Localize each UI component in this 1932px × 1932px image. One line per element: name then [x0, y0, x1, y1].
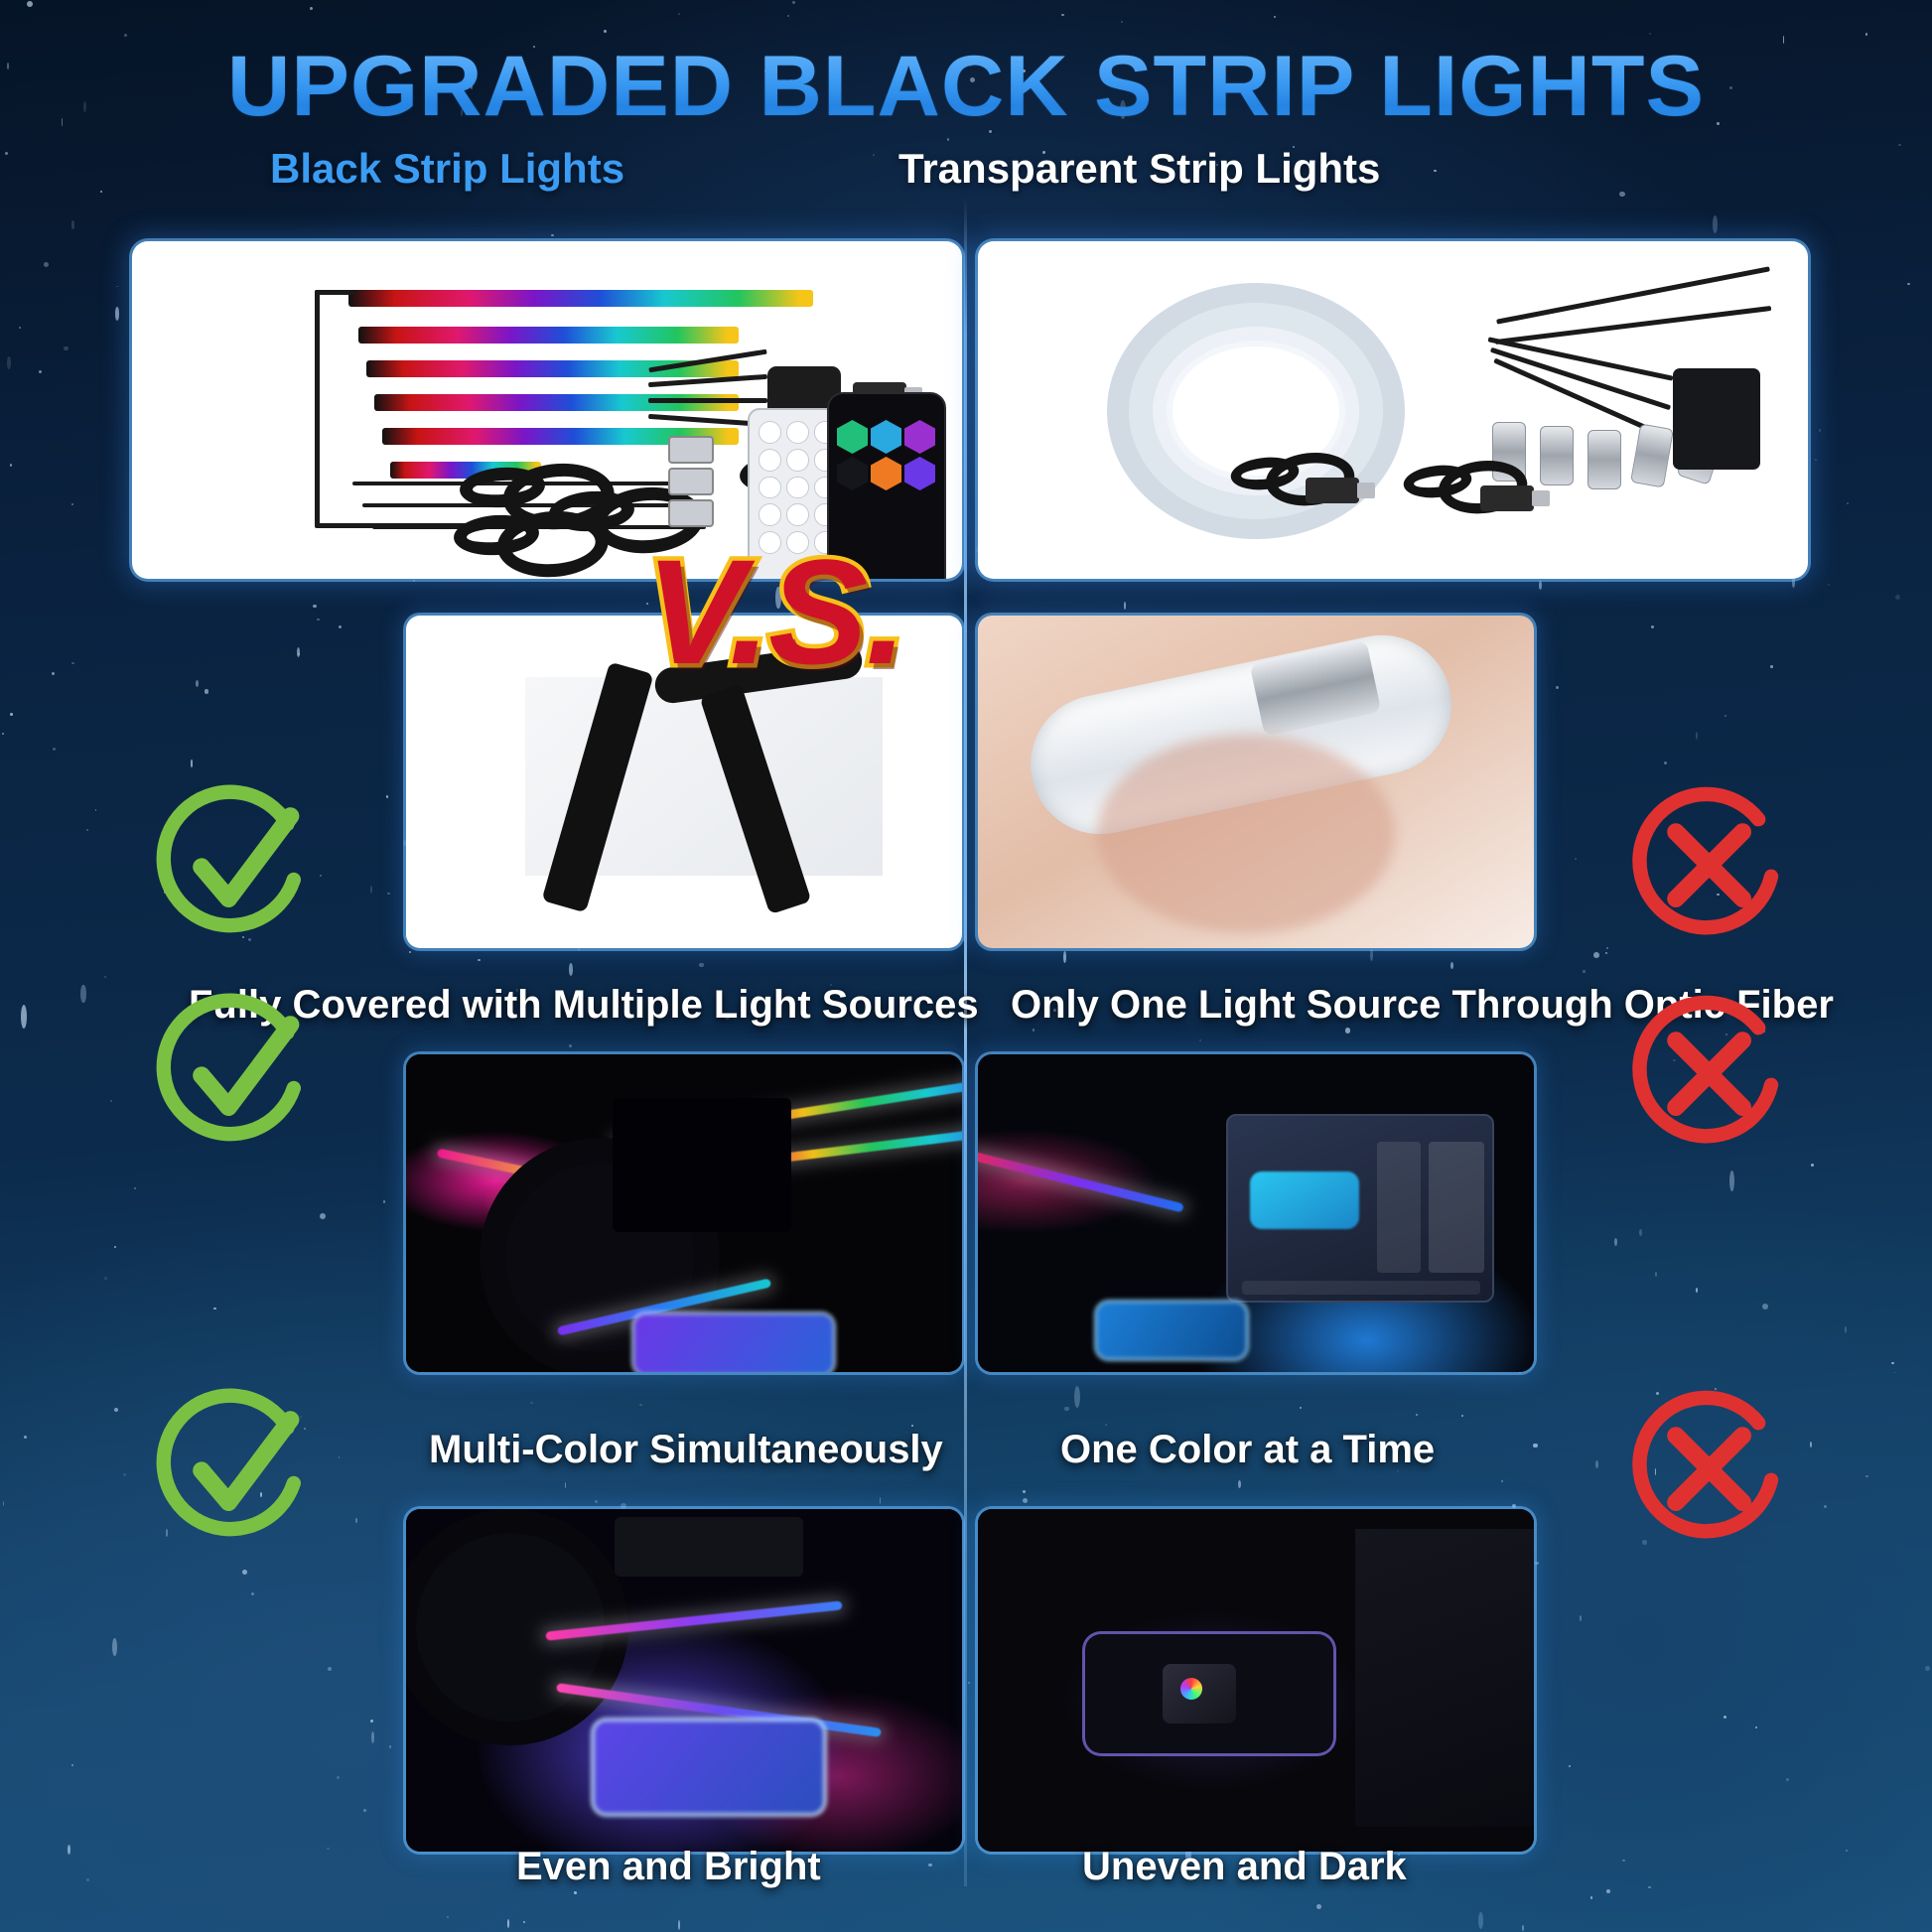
infographic-root: UPGRADED BLACK STRIP LIGHTS Black Strip …: [0, 0, 1932, 1932]
photo-car-interior-multicolor: [406, 1054, 962, 1372]
car-touchscreen: [1226, 1114, 1494, 1303]
cross-icon-coverage: [1628, 784, 1787, 943]
vs-badge: V.S.: [645, 526, 905, 698]
column-heading-right: Transparent Strip Lights: [898, 145, 1380, 193]
photo-car-interior-single-blue: [978, 1054, 1534, 1372]
product-card-transparent-strip-kit: [978, 241, 1808, 579]
cross-icon-color: [1628, 993, 1787, 1152]
photo-car-interior-uneven-dark: [978, 1509, 1534, 1852]
caption-brightness-left: Even and Bright: [516, 1845, 821, 1889]
caption-color-left: Multi-Color Simultaneously: [429, 1428, 943, 1472]
caption-brightness-right: Uneven and Dark: [1082, 1845, 1407, 1889]
column-divider: [964, 199, 967, 1886]
transparent-fiber-kit-illustration: [978, 241, 1808, 579]
column-heading-left: Black Strip Lights: [270, 145, 624, 193]
check-icon-brightness: [154, 1388, 313, 1547]
photo-fiber-tube-in-hand: [978, 616, 1534, 948]
cross-icon-brightness: [1628, 1388, 1787, 1547]
photo-car-interior-even-bright: [406, 1509, 962, 1852]
check-icon-coverage: [154, 784, 313, 943]
page-title: UPGRADED BLACK STRIP LIGHTS: [0, 38, 1932, 136]
check-icon-color: [154, 993, 313, 1152]
caption-color-right: One Color at a Time: [1060, 1428, 1435, 1472]
